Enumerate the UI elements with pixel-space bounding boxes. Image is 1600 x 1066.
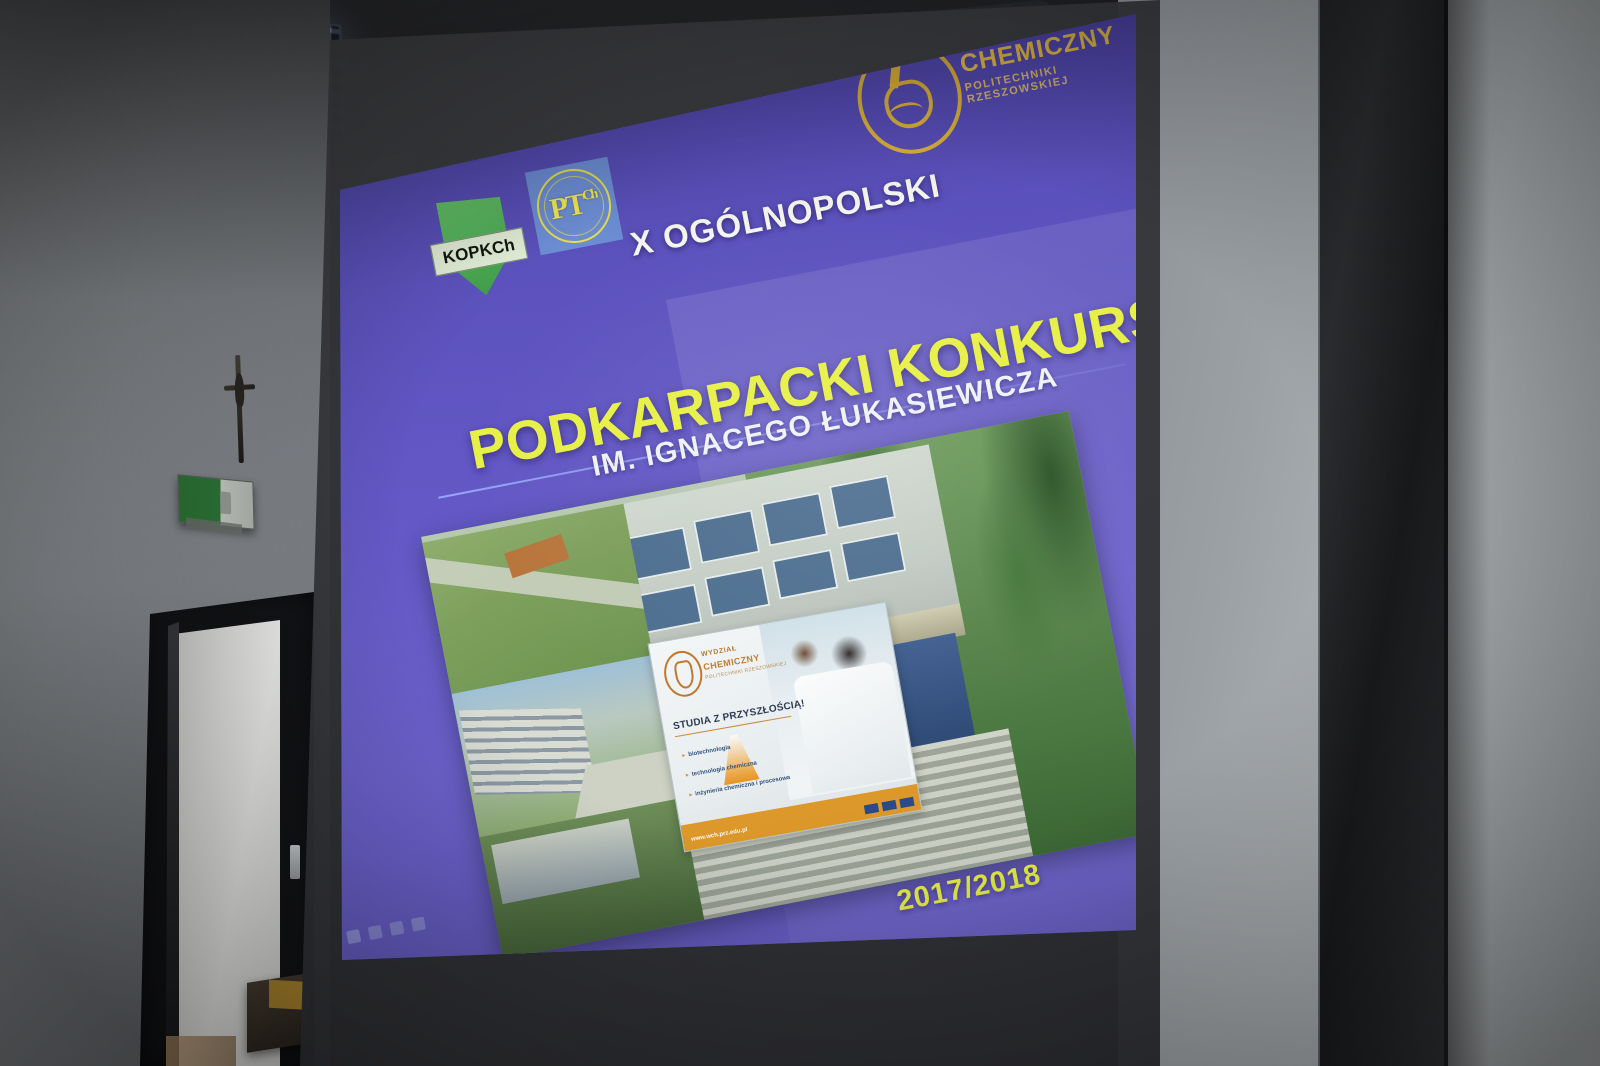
ptch-logo: PTCh — [525, 157, 623, 255]
taskbar-icon-0[interactable] — [346, 929, 361, 944]
campus-advert-banner: WYDZIAŁ CHEMICZNY POLITECHNIKI RZESZOWSK… — [647, 602, 922, 853]
banner-flask-icon — [716, 732, 760, 786]
column-shadow — [1444, 0, 1490, 1066]
projected-slide-wrapper: KOPKCh PTCh WYDZIAŁ CHEMICZNY POLITECH — [336, 0, 1136, 990]
kopkch-label: KOPKCh — [441, 235, 516, 269]
floor-strip — [166, 1036, 236, 1066]
door-gap — [166, 616, 179, 1066]
banner-lab-coat — [793, 661, 912, 795]
banner-faculty-logo-icon — [661, 648, 706, 700]
taskbar-icon-1[interactable] — [368, 924, 383, 939]
dark-column — [1320, 0, 1448, 1066]
lecture-room-photo: KOPKCh PTCh WYDZIAŁ CHEMICZNY POLITECH — [0, 0, 1600, 1066]
door-handle[interactable] — [290, 845, 300, 879]
ptch-seal-icon: PTCh — [531, 163, 618, 250]
crucifix-icon — [224, 355, 254, 463]
box-in-doorway — [247, 973, 309, 1053]
taskbar-icon-3[interactable] — [411, 916, 426, 931]
ptch-letters: PTCh — [533, 165, 615, 247]
taskbar-icon-2[interactable] — [389, 920, 404, 935]
banner-bullet-0: biotechnologia — [682, 744, 731, 759]
presentation-slide[interactable]: KOPKCh PTCh WYDZIAŁ CHEMICZNY POLITECH — [336, 0, 1136, 990]
